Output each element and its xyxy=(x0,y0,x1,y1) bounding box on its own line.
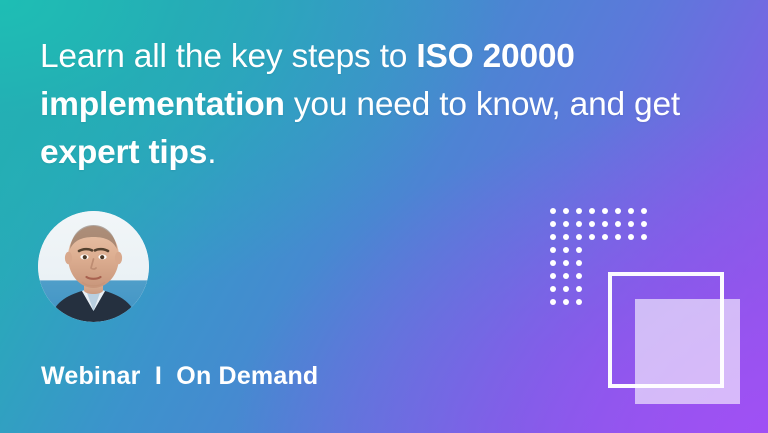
avatar-photo xyxy=(38,211,149,322)
webinar-promo-banner: Learn all the key steps to ISO 20000 imp… xyxy=(0,0,768,433)
headline-segment-0: Learn all the key steps to xyxy=(40,38,416,75)
footer-label: Webinar I On Demand xyxy=(41,362,318,391)
presenter-avatar xyxy=(38,211,149,322)
headline-segment-2: you need to know, and get xyxy=(285,86,680,123)
outlined-square-decoration xyxy=(608,272,724,388)
headline: Learn all the key steps to ISO 20000 imp… xyxy=(40,33,720,177)
headline-segment-4: . xyxy=(207,134,216,171)
headline-segment-3: expert tips xyxy=(40,134,207,171)
